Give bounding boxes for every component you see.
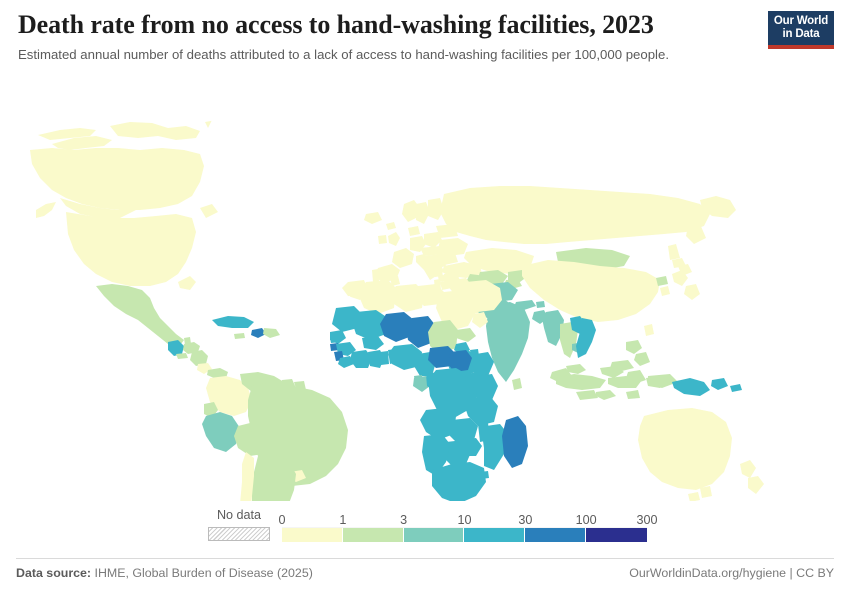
country-canada[interactable]: Canada	[110, 122, 200, 140]
legend-tick-300: 300	[636, 513, 657, 527]
country-australia[interactable]: Australia	[688, 492, 700, 501]
legend-tick-1: 1	[339, 513, 346, 527]
legend-no-data-label: No data	[208, 508, 270, 522]
country-shapes[interactable]: IcelandSvalbardTaiwanNew CaledoniaFijiCy…	[30, 112, 765, 501]
country-united-states[interactable]: United States	[66, 212, 196, 286]
chart-subtitle: Estimated annual number of deaths attrib…	[18, 46, 758, 63]
country-solomon-islands[interactable]: Solomon Islands	[730, 384, 742, 392]
country-togo[interactable]: Togo	[380, 351, 389, 365]
legend-bin-3[interactable]	[464, 528, 525, 542]
country-djibouti[interactable]: Djibouti	[470, 349, 479, 357]
legend-tick-3: 3	[400, 513, 407, 527]
country-puerto-rico[interactable]: Puerto Rico	[282, 333, 293, 340]
country-papua-new-guinea[interactable]: Papua New Guinea	[672, 378, 710, 396]
footer-divider	[16, 558, 834, 559]
country-bhutan[interactable]: Bhutan	[536, 301, 545, 308]
legend-bin-4[interactable]	[525, 528, 586, 542]
data-source-prefix: Data source:	[16, 566, 91, 580]
legend-tick-0: 0	[278, 513, 285, 527]
legend-color-bar[interactable]	[282, 527, 647, 541]
country-india[interactable]: India	[486, 302, 530, 382]
our-world-in-data-logo[interactable]: Our World in Data	[768, 11, 834, 49]
chart-footer: Data source: IHME, Global Burden of Dise…	[16, 566, 834, 581]
country-philippines[interactable]: Philippines	[626, 340, 642, 354]
country-sri-lanka[interactable]: Sri Lanka	[512, 378, 522, 390]
country-russia[interactable]: Russia	[440, 186, 710, 244]
country-dominican-republic[interactable]: Dominican Republic	[263, 328, 280, 338]
country-chile[interactable]: Chile	[234, 452, 254, 501]
page-title: Death rate from no access to hand-washin…	[18, 10, 758, 40]
country-jamaica[interactable]: Jamaica	[234, 333, 245, 339]
country-south-korea[interactable]: South Korea	[660, 286, 670, 296]
data-source-value: IHME, Global Burden of Disease (2025)	[95, 566, 313, 580]
country-philippines[interactable]: Philippines	[634, 352, 650, 366]
country-denmark[interactable]: Denmark	[408, 226, 420, 236]
country-new-zealand[interactable]: New Zealand	[748, 476, 764, 494]
country-yemen[interactable]: Yemen	[456, 328, 476, 342]
country-australia[interactable]: Australia	[638, 408, 732, 490]
map-legend: No data 0131030100300	[0, 508, 850, 552]
country-canada[interactable]: Canada	[30, 148, 204, 210]
data-source-text: Data source: IHME, Global Burden of Dise…	[16, 566, 313, 581]
country-papua-new-guinea[interactable]: Papua New Guinea	[711, 378, 728, 390]
country-north-korea[interactable]: North Korea	[656, 276, 668, 286]
logo-line-1: Our World	[774, 15, 828, 28]
legend-tick-10: 10	[457, 513, 471, 527]
country-sweden[interactable]: Sweden	[416, 202, 430, 224]
legend-tick-labels: 0131030100300	[282, 508, 647, 527]
legend-bin-5[interactable]	[586, 528, 647, 542]
country-new-zealand[interactable]: New Zealand	[740, 460, 756, 478]
country-portugal[interactable]: Portugal	[372, 269, 379, 282]
chart-header: Death rate from no access to hand-washin…	[18, 10, 758, 63]
legend-bin-1[interactable]	[343, 528, 404, 542]
world-map-container[interactable]: IcelandSvalbardTaiwanNew CaledoniaFijiCy…	[0, 86, 850, 501]
country-united-states[interactable]: United States	[178, 276, 196, 290]
country-newfoundland[interactable]: Newfoundland	[200, 204, 218, 218]
country-indonesia[interactable]: Indonesia	[556, 374, 606, 390]
country-svalbard[interactable]: Svalbard	[436, 176, 452, 188]
footer-url-license[interactable]: OurWorldinData.org/hygiene | CC BY	[629, 566, 834, 581]
country-indonesia[interactable]: Indonesia	[596, 390, 616, 400]
country-el-salvador[interactable]: El Salvador	[176, 353, 188, 359]
country-burkina-faso[interactable]: Burkina Faso	[362, 336, 384, 350]
legend-tick-100: 100	[576, 513, 597, 527]
legend-bin-0[interactable]	[282, 528, 343, 542]
country-madagascar[interactable]: Madagascar	[502, 416, 528, 468]
country-eswatini[interactable]: Eswatini	[480, 471, 489, 479]
country-java-extra[interactable]: Java-extra	[576, 390, 598, 400]
owid-map-chart: Death rate from no access to hand-washin…	[0, 0, 850, 600]
legend-no-data[interactable]: No data	[208, 508, 270, 541]
country-france[interactable]: France	[392, 248, 414, 268]
country-united-states[interactable]: United States	[36, 202, 56, 218]
country-united-kingdom[interactable]: United Kingdom	[388, 232, 400, 246]
country-fiji[interactable]: Fiji	[756, 417, 765, 425]
legend-tick-30: 30	[518, 513, 532, 527]
country-peru[interactable]: Peru	[202, 412, 240, 452]
legend-bins[interactable]: 0131030100300	[282, 508, 647, 541]
country-new-caledonia[interactable]: New Caledonia	[734, 428, 746, 438]
legend-no-data-swatch[interactable]	[208, 527, 270, 541]
country-iceland[interactable]: Iceland	[364, 212, 382, 224]
legend-bin-2[interactable]	[404, 528, 465, 542]
country-greenland[interactable]: Greenland	[206, 112, 288, 176]
country-mexico[interactable]: Mexico	[96, 284, 184, 348]
country-cuba[interactable]: Cuba	[212, 316, 254, 328]
country-trinidad[interactable]: Trinidad	[286, 371, 295, 378]
world-choropleth-map[interactable]: IcelandSvalbardTaiwanNew CaledoniaFijiCy…	[0, 86, 850, 501]
country-gambia[interactable]: Gambia	[330, 337, 341, 343]
country-ireland[interactable]: Ireland	[378, 235, 387, 244]
country-timor[interactable]: Timor	[626, 390, 640, 399]
logo-line-2: in Data	[783, 28, 820, 41]
country-taiwan[interactable]: Taiwan	[644, 324, 654, 336]
country-south-africa[interactable]: South Africa	[432, 462, 486, 501]
country-japan[interactable]: Japan	[684, 284, 700, 300]
country-sakhalin[interactable]: Sakhalin	[668, 244, 680, 260]
country-united-kingdom[interactable]: United Kingdom	[386, 222, 396, 230]
